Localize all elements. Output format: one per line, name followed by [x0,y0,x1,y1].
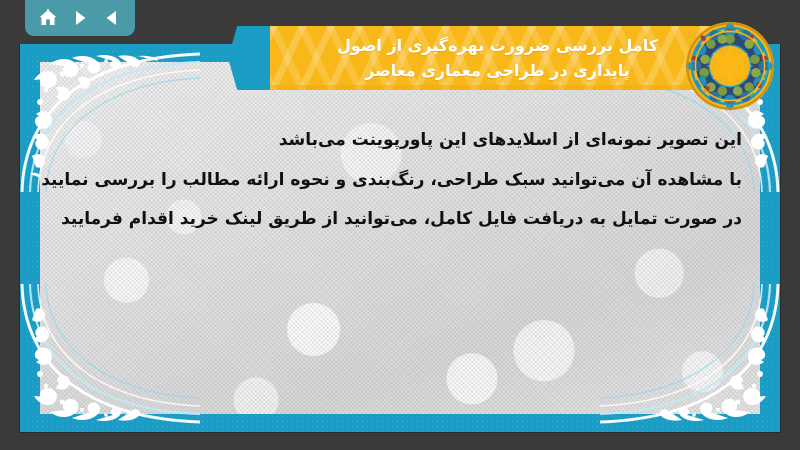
home-icon[interactable] [37,7,59,29]
slide-canvas: این تصویر نمونه‌ای از اسلایدهای این پاور… [0,0,800,450]
body-line-2: با مشاهده آن می‌توانید سبک طراحی، رنگ‌بن… [42,168,742,194]
navigation-panel [25,0,135,36]
page-title: کامل بررسی ضرورت بهره‌گیری از اصول پایدا… [270,26,725,84]
slide-body-text: این تصویر نمونه‌ای از اسلایدهای این پاور… [42,128,742,247]
title-banner: کامل بررسی ضرورت بهره‌گیری از اصول پایدا… [270,26,725,90]
body-line-1: این تصویر نمونه‌ای از اسلایدهای این پاور… [42,128,742,154]
title-line-2: پایداری در طراحی معماری معاصر [292,59,703,84]
body-line-3: در صورت تمایل به دریافت فایل کامل، می‌تو… [42,207,742,233]
islamic-medallion-icon [682,18,778,114]
title-line-1: کامل بررسی ضرورت بهره‌گیری از اصول [292,34,703,59]
next-arrow-icon[interactable] [69,7,91,29]
previous-arrow-icon[interactable] [101,7,123,29]
banner-tab [228,26,274,90]
